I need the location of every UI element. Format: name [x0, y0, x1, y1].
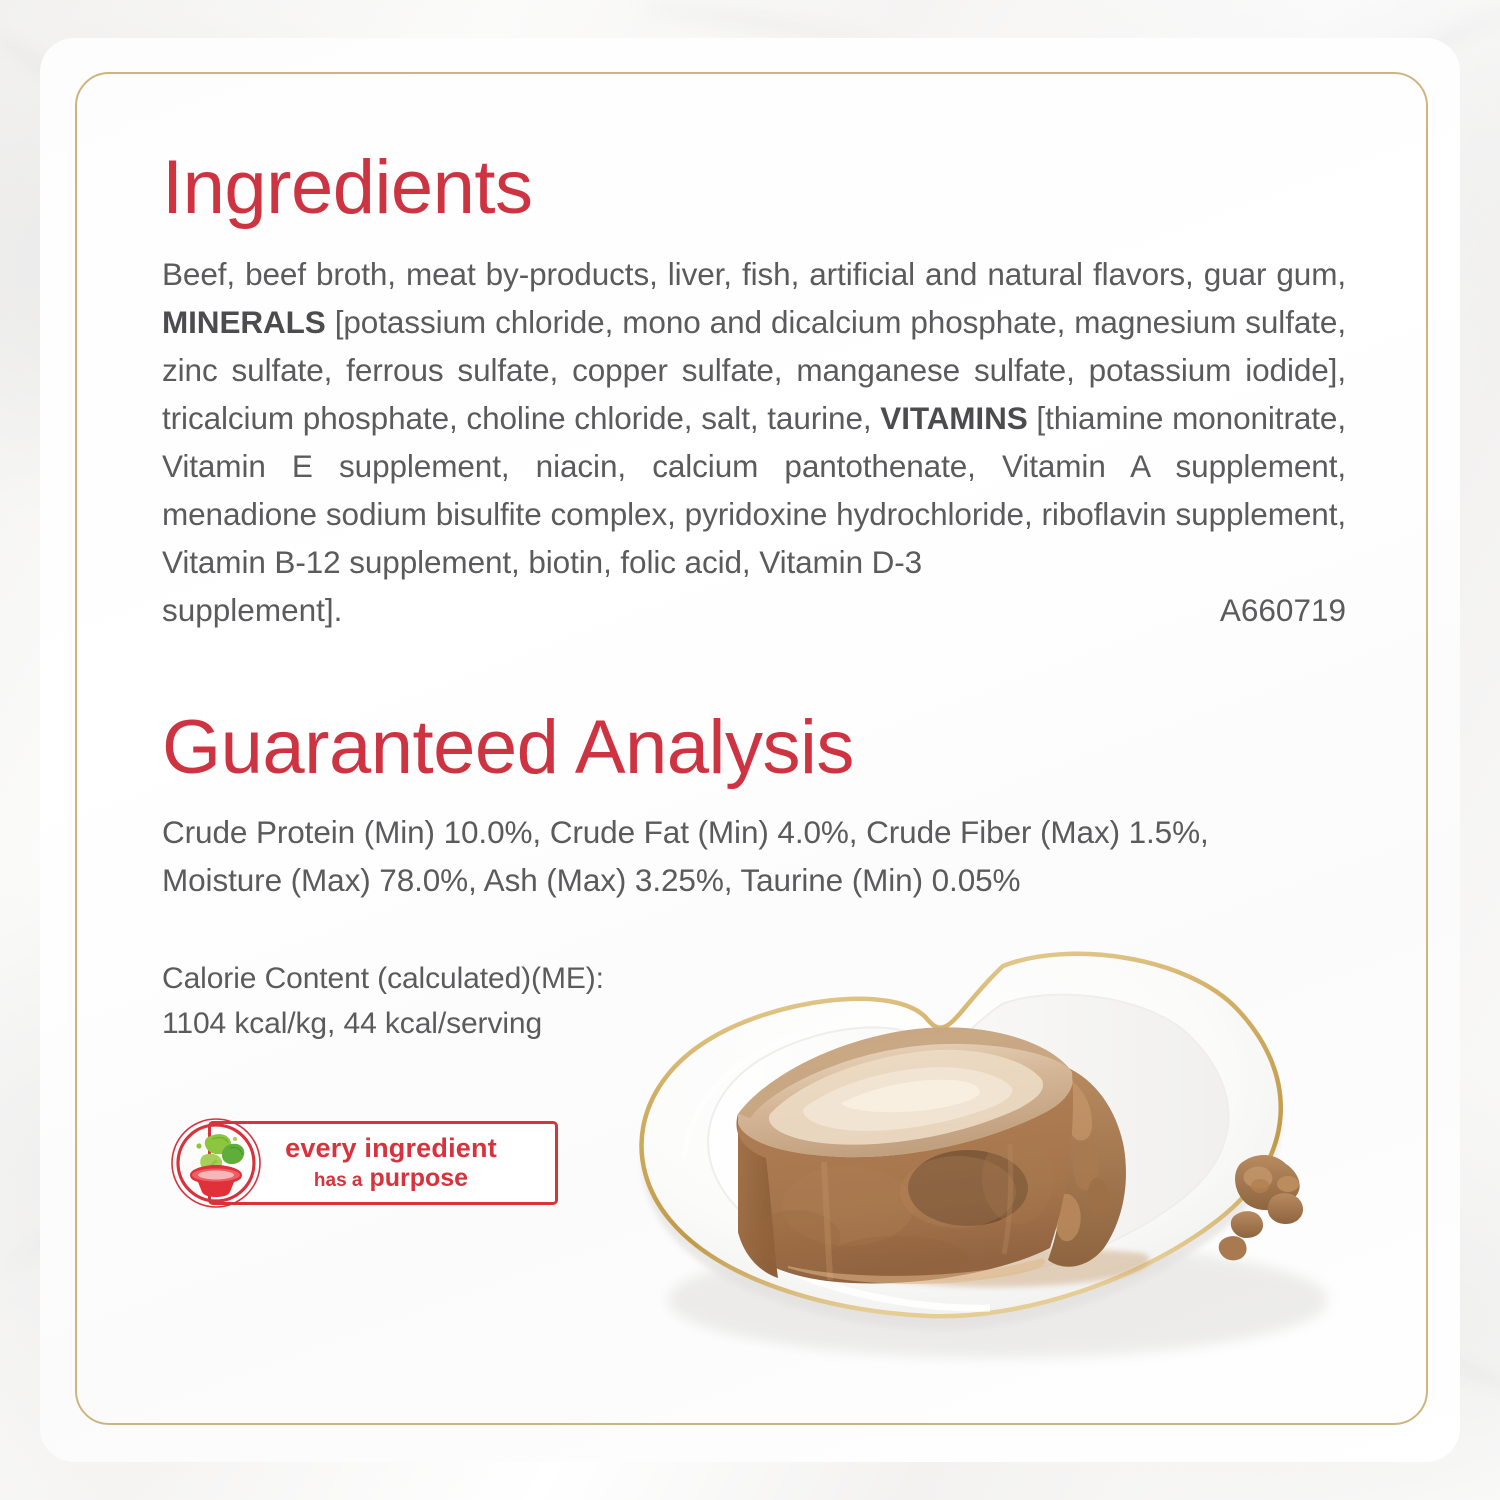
badge-text: every ingredient has a purpose: [226, 1123, 556, 1203]
ga-line-2: Moisture (Max) 78.0%, Ash (Max) 3.25%, T…: [162, 856, 1346, 904]
label-content: Ingredients Beef, beef broth, meat by-pr…: [162, 150, 1346, 1046]
guaranteed-analysis-heading: Guaranteed Analysis: [162, 710, 1346, 786]
calorie-content-text: Calorie Content (calculated)(ME): 1104 k…: [162, 956, 1346, 1046]
ingredients-text-part1: Beef, beef broth, meat by-products, live…: [162, 256, 1346, 292]
vitamins-label: VITAMINS: [880, 400, 1027, 436]
calorie-line-2: 1104 kcal/kg, 44 kcal/serving: [162, 1001, 1346, 1046]
badge-line-2: has a purpose: [314, 1164, 468, 1192]
ingredients-heading: Ingredients: [162, 150, 1346, 226]
product-code: A660719: [1220, 586, 1346, 634]
ingredients-last-line: supplement]. A660719: [162, 586, 1346, 634]
guaranteed-analysis-text: Crude Protein (Min) 10.0%, Crude Fat (Mi…: [162, 808, 1346, 904]
minerals-label: MINERALS: [162, 304, 326, 340]
every-ingredient-badge: every ingredient has a purpose: [168, 1117, 560, 1209]
badge-line-2-small: has a: [314, 1170, 363, 1191]
label-canvas: Ingredients Beef, beef broth, meat by-pr…: [0, 0, 1500, 1500]
badge-line-2-bold: purpose: [369, 1164, 468, 1192]
badge-line-1: every ingredient: [285, 1134, 497, 1162]
ga-line-1: Crude Protein (Min) 10.0%, Crude Fat (Mi…: [162, 808, 1346, 856]
ingredients-closing-text: supplement].: [162, 586, 342, 634]
calorie-line-1: Calorie Content (calculated)(ME):: [162, 956, 1346, 1001]
ingredients-text: Beef, beef broth, meat by-products, live…: [162, 250, 1346, 586]
guaranteed-analysis-section: Guaranteed Analysis Crude Protein (Min) …: [162, 710, 1346, 904]
